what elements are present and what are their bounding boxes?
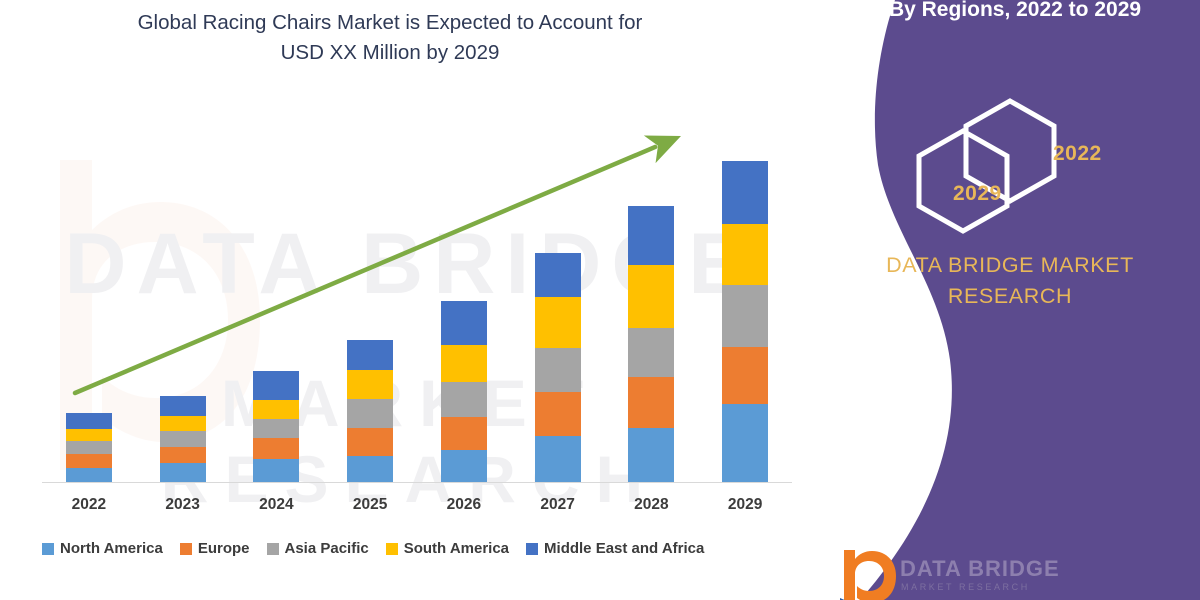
bar-segment xyxy=(66,468,112,482)
bar-segment xyxy=(66,454,112,468)
x-axis-label: 2023 xyxy=(138,496,228,514)
bar-segment xyxy=(66,429,112,441)
hexagon-left-label: 2029 xyxy=(953,182,1002,206)
infographic-root: DATA BRIDGE MARKET RESEARCH Global Racin… xyxy=(0,0,1200,600)
bar-segment xyxy=(347,340,393,371)
bar-segment xyxy=(441,417,487,450)
bar-segment xyxy=(535,297,581,348)
bar-segment xyxy=(347,399,393,428)
bar-segment xyxy=(722,404,768,482)
bar-segment xyxy=(535,253,581,297)
bar-segment xyxy=(441,382,487,417)
bar-column xyxy=(628,206,674,482)
panel-heading: By Regions, 2022 to 2029 xyxy=(830,0,1200,23)
bar-column xyxy=(160,396,206,482)
brand-name: DATA BRIDGE MARKET RESEARCH xyxy=(830,250,1190,312)
bar-segment xyxy=(160,463,206,482)
bar-segment xyxy=(347,428,393,456)
legend-swatch xyxy=(267,543,279,555)
legend-label: South America xyxy=(404,540,509,557)
x-axis-label: 2029 xyxy=(700,496,790,514)
company-logo: DATA BRIDGE MARKET RESEARCH xyxy=(838,548,1138,600)
bar-column xyxy=(722,161,768,482)
hexagon-left-shape xyxy=(919,131,1007,231)
bar-segment xyxy=(535,392,581,437)
x-axis-label: 2024 xyxy=(231,496,321,514)
bar-segment xyxy=(253,419,299,439)
chart-plot-area: 20222023202420252026202720282029 xyxy=(0,0,800,600)
brand-line-2: RESEARCH xyxy=(830,281,1190,312)
x-axis-label: 2027 xyxy=(513,496,603,514)
bar-segment xyxy=(347,456,393,482)
legend-item[interactable]: Middle East and Africa xyxy=(526,540,704,557)
brand-line-1: DATA BRIDGE MARKET xyxy=(830,250,1190,281)
bar-segment xyxy=(347,370,393,399)
bar-segment xyxy=(160,447,206,464)
stacked-bar-group xyxy=(42,110,792,482)
bar-segment xyxy=(722,285,768,347)
bar-column xyxy=(347,340,393,482)
x-axis-label: 2028 xyxy=(606,496,696,514)
bar-segment xyxy=(628,428,674,482)
bar-segment xyxy=(722,347,768,404)
bar-column xyxy=(66,413,112,482)
bar-column xyxy=(535,253,581,482)
logo-text: DATA BRIDGE xyxy=(900,556,1060,582)
logo-subtext: MARKET RESEARCH xyxy=(901,582,1030,592)
bar-segment xyxy=(722,224,768,284)
bar-column xyxy=(441,301,487,482)
bar-segment xyxy=(628,265,674,327)
bar-segment xyxy=(535,436,581,482)
bar-segment xyxy=(160,431,206,447)
bar-segment xyxy=(535,348,581,392)
legend-label: North America xyxy=(60,540,163,557)
legend-item[interactable]: Europe xyxy=(180,540,250,557)
legend-swatch xyxy=(526,543,538,555)
legend-label: Asia Pacific xyxy=(285,540,369,557)
bar-segment xyxy=(160,416,206,431)
bar-segment xyxy=(253,438,299,458)
legend-swatch xyxy=(386,543,398,555)
bar-segment xyxy=(66,441,112,454)
bar-segment xyxy=(160,396,206,416)
x-axis-line xyxy=(42,482,792,483)
brand-panel: By Regions, 2022 to 2029 2022 2029 DATA … xyxy=(800,0,1200,600)
bar-segment xyxy=(441,345,487,381)
x-axis-tick-labels: 20222023202420252026202720282029 xyxy=(42,496,792,526)
chart-legend: North AmericaEuropeAsia PacificSouth Ame… xyxy=(42,540,782,557)
x-axis-label: 2025 xyxy=(325,496,415,514)
bar-segment xyxy=(441,450,487,482)
bar-segment xyxy=(253,400,299,419)
legend-label: Europe xyxy=(198,540,250,557)
bar-segment xyxy=(722,161,768,224)
bar-segment xyxy=(441,301,487,346)
bar-segment xyxy=(66,413,112,429)
bar-segment xyxy=(628,206,674,266)
legend-item[interactable]: Asia Pacific xyxy=(267,540,369,557)
bar-segment xyxy=(628,328,674,377)
hexagon-right-label: 2022 xyxy=(1053,142,1102,166)
hexagon-pair: 2022 2029 xyxy=(915,95,1145,235)
legend-label: Middle East and Africa xyxy=(544,540,704,557)
legend-swatch xyxy=(42,543,54,555)
bar-column xyxy=(253,371,299,482)
bar-segment xyxy=(253,371,299,400)
logo-b-icon xyxy=(838,548,898,600)
x-axis-label: 2022 xyxy=(44,496,134,514)
legend-item[interactable]: North America xyxy=(42,540,163,557)
legend-swatch xyxy=(180,543,192,555)
bar-segment xyxy=(253,459,299,482)
legend-item[interactable]: South America xyxy=(386,540,509,557)
bar-segment xyxy=(628,377,674,428)
x-axis-label: 2026 xyxy=(419,496,509,514)
